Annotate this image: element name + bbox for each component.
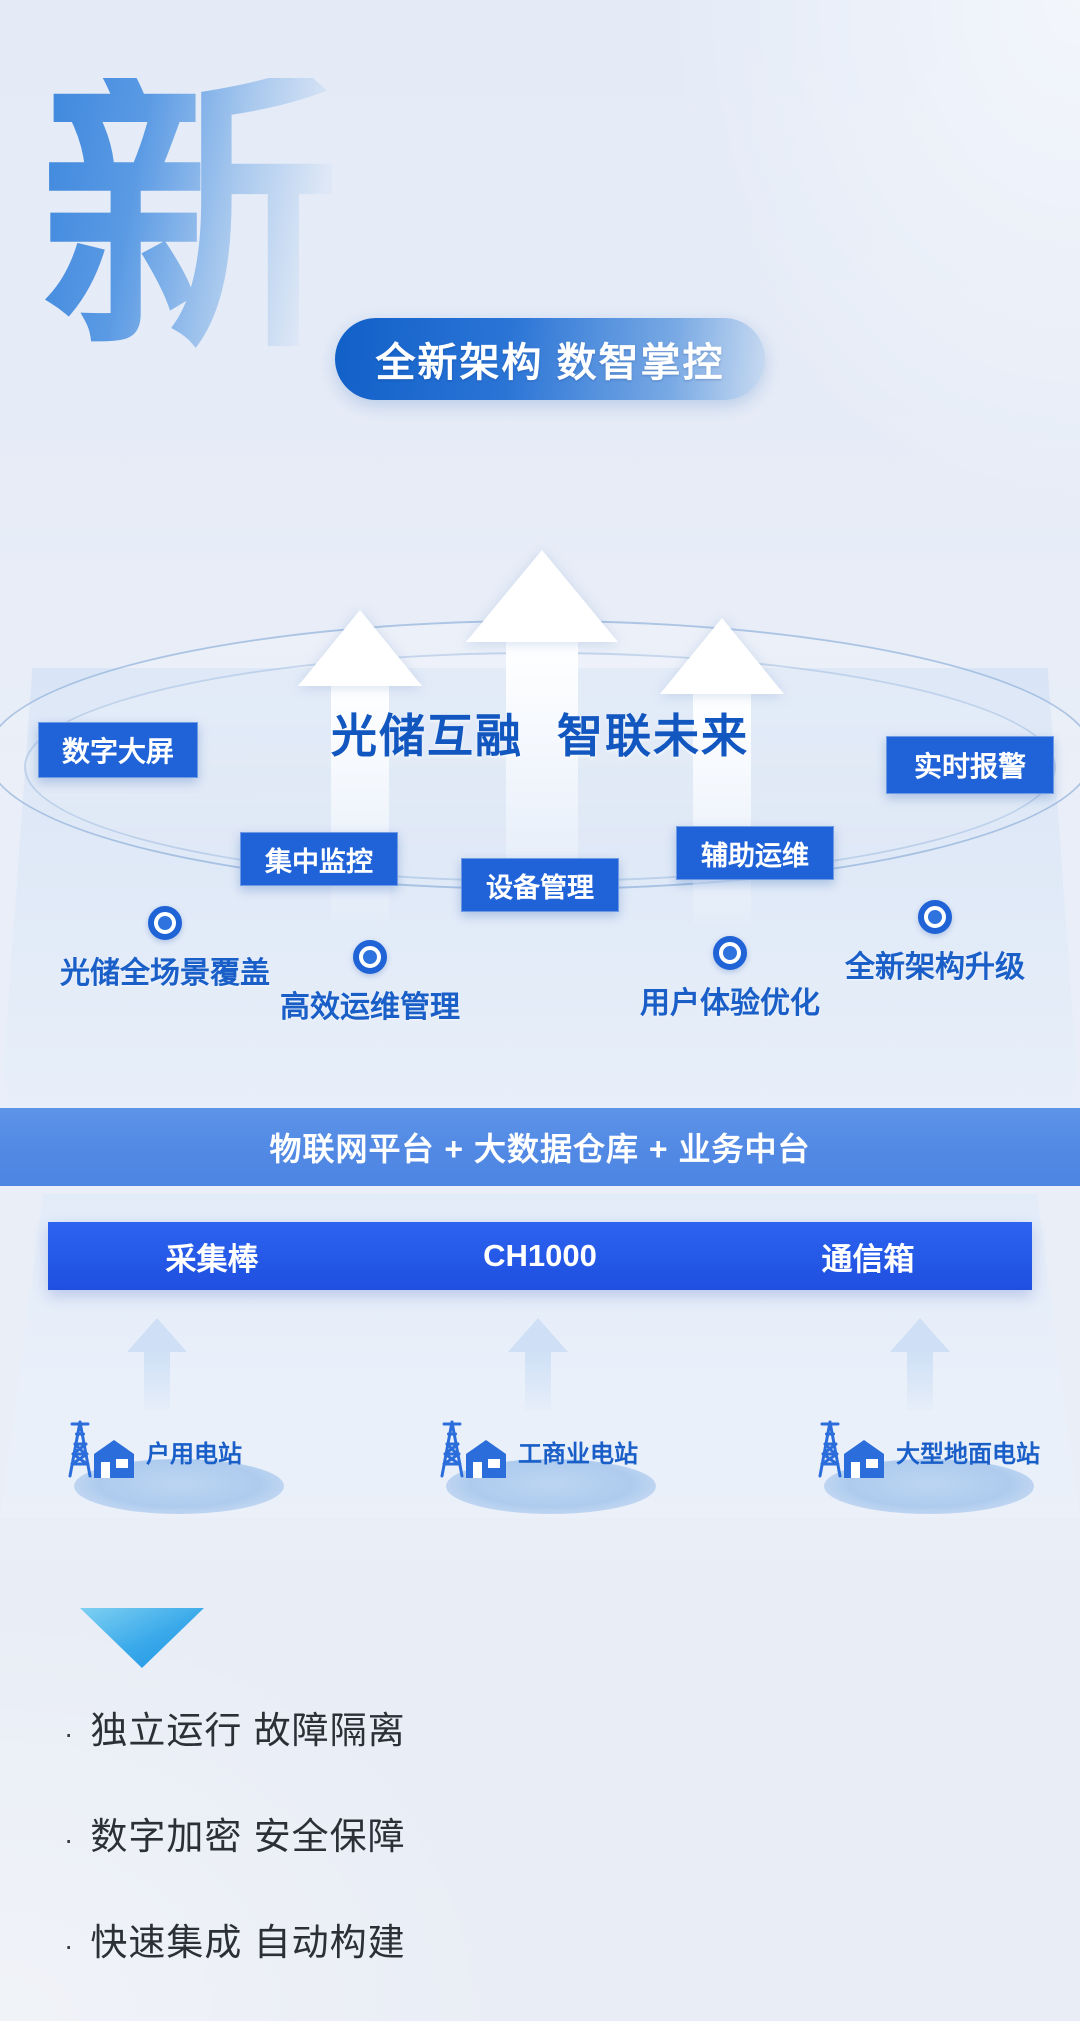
hero-watermark-character: 新: [40, 78, 340, 354]
list-item: · 快速集成 自动构建: [64, 1912, 964, 1966]
list-item-label: 快速集成 自动构建: [90, 1912, 405, 1966]
headline-part-1: 光储互融: [331, 710, 523, 762]
footer-feature-list: · 独立运行 故障隔离 · 数字加密 安全保障 · 快速集成 自动构建: [64, 1700, 964, 2018]
power-station-icon: [808, 1414, 892, 1488]
bullet-dot-icon: [353, 940, 387, 974]
tag-assisted-ops[interactable]: 辅助运维: [676, 826, 834, 880]
power-station-icon: [430, 1414, 514, 1488]
flow-arrow-left-icon: [127, 1318, 187, 1410]
bullet-dot-icon: [148, 906, 182, 940]
device-item-collector[interactable]: 采集棒: [48, 1234, 376, 1279]
station-commercial: 工商业电站: [430, 1414, 638, 1488]
bullet-dot-icon: [713, 936, 747, 970]
feature-bullet-operations: 高效运维管理: [280, 940, 460, 1026]
tag-realtime-alarm[interactable]: 实时报警: [886, 736, 1054, 794]
platform-section: [0, 560, 1080, 1120]
device-item-ch1000[interactable]: CH1000: [376, 1238, 704, 1274]
station-label: 工商业电站: [518, 1434, 638, 1469]
hero-banner-label: 全新架构 数智掌控: [375, 330, 724, 388]
tag-central-monitor[interactable]: 集中监控: [240, 832, 398, 886]
power-station-icon: [58, 1414, 142, 1488]
hero-section: 新 全新架构 数智掌控: [0, 0, 1080, 470]
device-bar: 采集棒 CH1000 通信箱: [48, 1222, 1032, 1290]
feature-bullet-coverage: 光储全场景覆盖: [60, 906, 270, 992]
bullet-dot-icon: [918, 900, 952, 934]
feature-bullet-label: 高效运维管理: [280, 982, 460, 1026]
list-bullet-mark: ·: [64, 1718, 74, 1750]
platform-stack-label: 物联网平台 + 大数据仓库 + 业务中台: [270, 1124, 811, 1170]
list-item-label: 独立运行 故障隔离: [90, 1700, 405, 1754]
tag-device-management[interactable]: 设备管理: [461, 858, 619, 912]
hero-banner: 全新架构 数智掌控: [335, 318, 765, 400]
tag-digital-screen[interactable]: 数字大屏: [38, 722, 198, 778]
down-triangle-icon: [80, 1608, 204, 1670]
feature-bullet-label: 全新架构升级: [845, 942, 1025, 986]
device-section: 采集棒 CH1000 通信箱 户用电站: [0, 1186, 1080, 1526]
flow-arrow-right-icon: [890, 1318, 950, 1410]
platform-stack-bar: 物联网平台 + 大数据仓库 + 业务中台: [0, 1108, 1080, 1186]
headline-part-2: 智联未来: [557, 710, 749, 762]
feature-bullet-label: 用户体验优化: [640, 978, 820, 1022]
feature-bullet-experience: 用户体验优化: [640, 936, 820, 1022]
station-utility-scale: 大型地面电站: [808, 1414, 1040, 1488]
flow-arrow-center-icon: [508, 1318, 568, 1410]
station-label: 户用电站: [146, 1434, 242, 1469]
list-item-label: 数字加密 安全保障: [90, 1806, 405, 1860]
feature-bullet-label: 光储全场景覆盖: [60, 948, 270, 992]
feature-bullet-architecture: 全新架构升级: [845, 900, 1025, 986]
device-item-comm-box[interactable]: 通信箱: [704, 1234, 1032, 1279]
station-residential: 户用电站: [58, 1414, 242, 1488]
station-label: 大型地面电站: [896, 1434, 1040, 1469]
list-bullet-mark: ·: [64, 1824, 74, 1856]
list-item: · 数字加密 安全保障: [64, 1806, 964, 1860]
list-item: · 独立运行 故障隔离: [64, 1700, 964, 1754]
list-bullet-mark: ·: [64, 1930, 74, 1962]
